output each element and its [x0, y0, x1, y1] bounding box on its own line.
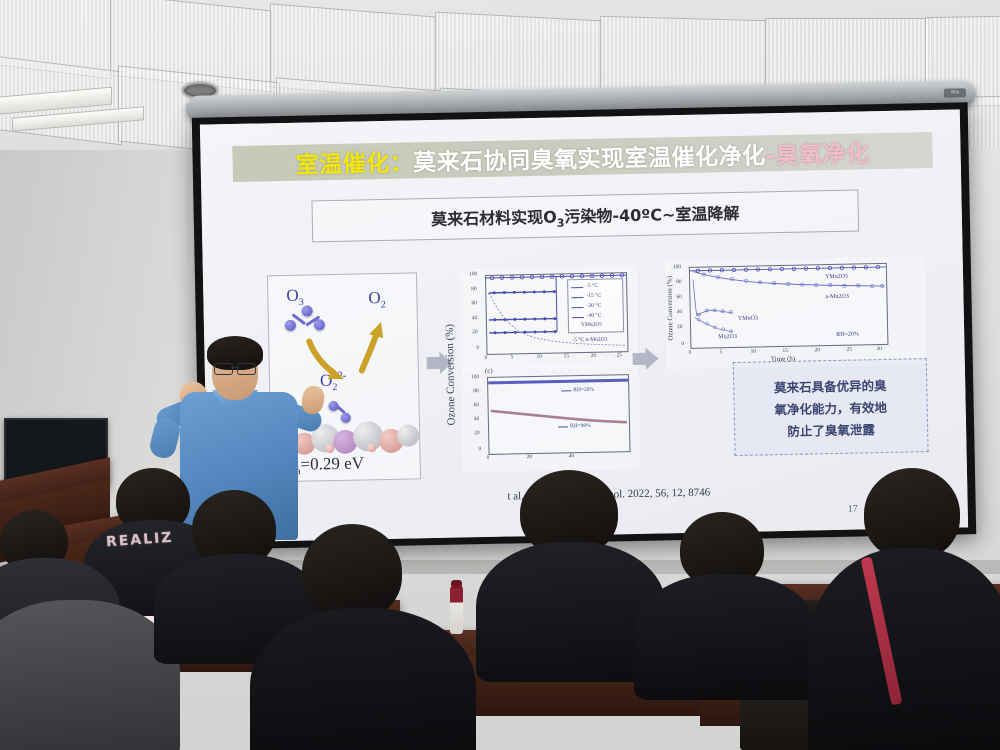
series-label-mn2o3: Mn2O3: [718, 334, 737, 340]
legend-group-label: YMn2O5: [581, 322, 602, 328]
callout-box: 莫来石具备优异的臭 氧净化能力，有效地 防止了臭氧泄露: [733, 358, 929, 456]
rh-annotation: RH=20%: [836, 331, 859, 337]
glasses-icon: [214, 363, 256, 373]
series-label-ymno3: YMnO3: [738, 316, 758, 322]
lecture-hall-photo: Wis 室温催化：莫来石协同臭氧实现室温催化净化-臭氧净化 莫来石材料实现O3污…: [0, 0, 1000, 750]
audience-member: [818, 468, 998, 750]
audience-member: [640, 512, 810, 692]
chart-c-rh20-label: RH=20%: [573, 387, 594, 393]
series-label-ymn2o5: YMn2O5: [825, 274, 848, 280]
chart-right: Ozone Conversion (%): [665, 256, 927, 369]
chart-b: -5 °C -15 °C -20 °C -40 °C YMn2O5 -5 °C …: [459, 266, 639, 370]
slide-subtitle-box: 莫来石材料实现O3污染物-40ºC~室温降解: [311, 189, 859, 242]
chart-c-rh90-label: RH=90%: [570, 423, 591, 429]
callout-line-1: 莫来石具备优异的臭: [774, 374, 887, 395]
right-chart-ylabel: Ozone Conversion (%): [665, 276, 674, 341]
chart-b-alpha-label: -5 °C α-Mn2O3: [572, 337, 607, 344]
chart-c: (c) RH=20% RH=90% 100 80 60 40: [461, 364, 641, 473]
slide-subtitle: 莫来石材料实现O3污染物-40ºC~室温降解: [431, 200, 740, 232]
slide-title-band: 室温催化：莫来石协同臭氧实现室温催化净化-臭氧净化: [232, 132, 933, 182]
audience-member: [0, 600, 160, 750]
series-label-amn2o3: a-Mn2O3: [825, 294, 848, 300]
presenter-hand: [300, 384, 327, 415]
roller-brand-label: Wis: [944, 88, 966, 97]
slide-title-highlight: 室温催化：: [295, 143, 413, 179]
audience-member: [266, 524, 476, 750]
callout-line-2: 氧净化能力，有效地: [774, 396, 887, 417]
panel-label-c: (c): [485, 367, 493, 375]
slide-title-main: 莫来石协同臭氧实现室温催化净化: [413, 136, 766, 177]
chart-b-legend: -5 °C -15 °C -20 °C -40 °C YMn2O5: [567, 278, 624, 333]
callout-line-3: 防止了臭氧泄露: [787, 419, 875, 440]
slide-title-accent: -臭氧净化: [765, 134, 870, 170]
